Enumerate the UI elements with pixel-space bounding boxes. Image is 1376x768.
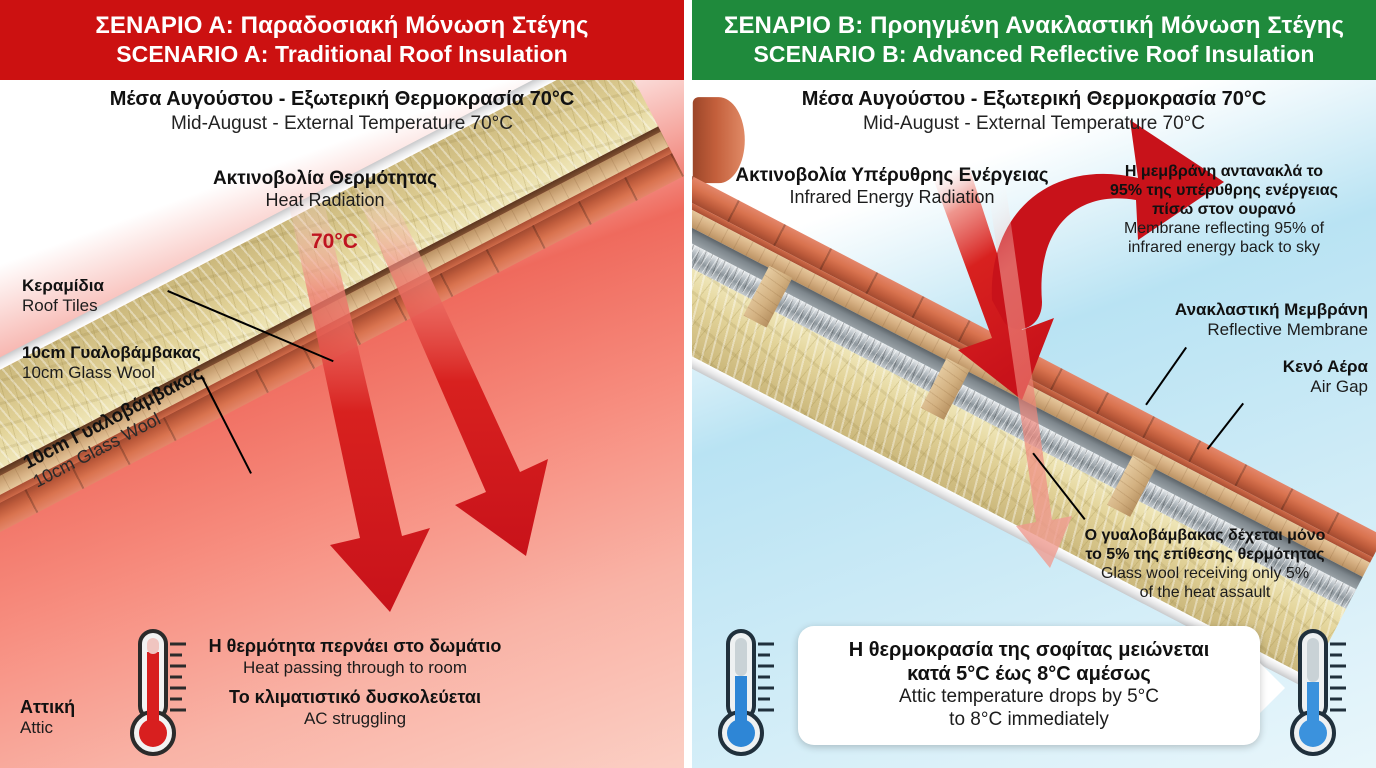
wool-receives-greek-1: Ο γυαλοβάμβακας δέχεται μόνο — [1045, 527, 1365, 546]
callout-english-2: to 8°C immediately — [820, 709, 1238, 732]
membrane-reflect-greek-3: πίσω στον ουρανό — [1072, 201, 1376, 220]
heat-radiation-greek: Ακτινοβολία Θερμότητας — [175, 168, 475, 190]
reflective-membrane-english: Reflective Membrane — [1096, 320, 1368, 340]
subtitle-b-english: Mid-August - External Temperature 70°C — [692, 112, 1376, 137]
scenario-a-banner: ΣΕΝΑΡΙΟ Α: Παραδοσιακή Μόνωση Στέγης SCE… — [0, 0, 684, 80]
callout-greek-2: κατά 5°C έως 8°C αμέσως — [820, 662, 1238, 686]
callout-greek-1: Η θερμοκρασία της σοφίτας μειώνεται — [820, 638, 1238, 662]
glass-wool-english: 10cm Glass Wool — [22, 363, 242, 383]
wool-receives-english-1: Glass wool receiving only 5% — [1045, 565, 1365, 584]
banner-b-greek: ΣΕΝΑΡΙΟ Β: Προηγμένη Ανακλαστική Μόνωση … — [724, 12, 1344, 40]
label-heat-radiation: Ακτινοβολία Θερμότητας Heat Radiation — [175, 168, 475, 212]
banner-a-english: SCENARIO A: Traditional Roof Insulation — [116, 41, 568, 68]
label-glass-wool: 10cm Γυαλοβάμβακας 10cm Glass Wool — [22, 343, 242, 383]
result-a2-greek: Το κλιματιστικό δυσκολεύεται — [170, 687, 540, 709]
membrane-reflect-english-2: infrared energy back to sky — [1072, 239, 1376, 258]
subtitle-b-greek: Μέσα Αυγούστου - Εξωτερική Θερμοκρασία 7… — [692, 86, 1376, 112]
label-wool-receives: Ο γυαλοβάμβακας δέχεται μόνο το 5% της ε… — [1045, 527, 1365, 603]
air-gap-greek: Κενό Αέρα — [1126, 357, 1368, 377]
glass-wool-greek: 10cm Γυαλοβάμβακας — [22, 343, 242, 363]
heat-radiation-english: Heat Radiation — [175, 190, 475, 211]
subtitle-a-greek: Μέσα Αυγούστου - Εξωτερική Θερμοκρασία 7… — [0, 86, 684, 112]
air-gap-english: Air Gap — [1126, 377, 1368, 397]
subtitle-a-english: Mid-August - External Temperature 70°C — [0, 112, 684, 137]
infrared-radiation-english: Infrared Energy Radiation — [727, 187, 1057, 208]
scenario-b-subtitle: Μέσα Αυγούστου - Εξωτερική Θερμοκρασία 7… — [692, 86, 1376, 137]
scenario-b-panel: ΣΕΝΑΡΙΟ Β: Προηγμένη Ανακλαστική Μόνωση … — [692, 0, 1376, 768]
membrane-reflect-english-1: Membrane reflecting 95% of — [1072, 220, 1376, 239]
wool-receives-english-2: of the heat assault — [1045, 584, 1365, 603]
scenario-a-panel: ΣΕΝΑΡΙΟ Α: Παραδοσιακή Μόνωση Στέγης SCE… — [0, 0, 684, 768]
cool-thermometer-right-icon — [1286, 628, 1358, 765]
result-a2-english: AC struggling — [170, 709, 540, 729]
panel-divider — [684, 0, 692, 768]
banner-b-english: SCENARIO B: Advanced Reflective Roof Ins… — [753, 41, 1314, 68]
attic-english: Attic — [20, 718, 75, 738]
infrared-radiation-greek: Ακτινοβολία Υπέρυθρης Ενέργειας — [727, 165, 1057, 187]
callout-tail — [1259, 662, 1285, 714]
results-a: Η θερμότητα περνάει στο δωμάτιο Heat pas… — [170, 636, 540, 729]
label-roof-tiles: Κεραμίδια Roof Tiles — [22, 276, 222, 316]
wool-receives-greek-2: το 5% της επίθεσης θερμότητας — [1045, 546, 1365, 565]
roof-tiles-greek: Κεραμίδια — [22, 276, 222, 296]
infographic-root: ΣΕΝΑΡΙΟ Α: Παραδοσιακή Μόνωση Στέγης SCE… — [0, 0, 1376, 768]
cool-thermometer-left-icon — [714, 628, 786, 765]
temperature-tag-a: 70°C — [311, 230, 358, 254]
label-infrared-radiation: Ακτινοβολία Υπέρυθρης Ενέργειας Infrared… — [727, 165, 1057, 209]
reflective-membrane-greek: Ανακλαστική Μεμβράνη — [1096, 300, 1368, 320]
scenario-b-banner: ΣΕΝΑΡΙΟ Β: Προηγμένη Ανακλαστική Μόνωση … — [692, 0, 1376, 80]
attic-greek: Αττική — [20, 697, 75, 718]
roof-tiles-english: Roof Tiles — [22, 296, 222, 316]
banner-a-greek: ΣΕΝΑΡΙΟ Α: Παραδοσιακή Μόνωση Στέγης — [95, 12, 588, 40]
label-attic-a: Αττική Attic — [20, 697, 75, 738]
label-air-gap: Κενό Αέρα Air Gap — [1126, 357, 1368, 397]
attic-temperature-callout: Η θερμοκρασία της σοφίτας μειώνεται κατά… — [798, 626, 1260, 745]
membrane-reflect-greek-1: Η μεμβράνη αντανακλά το — [1072, 163, 1376, 182]
callout-english-1: Attic temperature drops by 5°C — [820, 686, 1238, 709]
membrane-reflect-greek-2: 95% της υπέρυθρης ενέργειας — [1072, 182, 1376, 201]
scenario-a-subtitle: Μέσα Αυγούστου - Εξωτερική Θερμοκρασία 7… — [0, 86, 684, 137]
label-reflective-membrane: Ανακλαστική Μεμβράνη Reflective Membrane — [1096, 300, 1368, 340]
result-a1-greek: Η θερμότητα περνάει στο δωμάτιο — [170, 636, 540, 658]
label-membrane-reflect: Η μεμβράνη αντανακλά το 95% της υπέρυθρη… — [1072, 163, 1376, 257]
result-a1-english: Heat passing through to room — [170, 658, 540, 678]
